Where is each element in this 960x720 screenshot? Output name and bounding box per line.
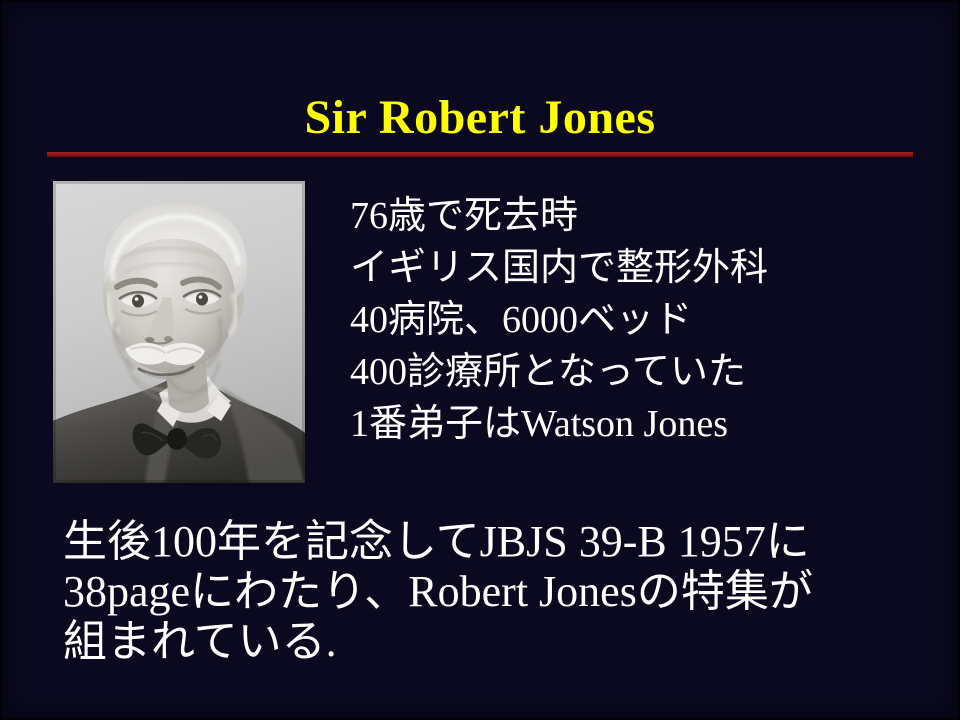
body-line: 76歳で死去時 [350,190,910,242]
body-line: 1番弟子はWatson Jones [350,398,910,450]
body-line: イギリス国内で整形外科 [350,242,910,294]
portrait-photo [53,181,305,483]
portrait-photo-image [53,181,305,483]
caption-line: 生後100年を記念してJBJS 39-B 1957に [63,517,943,567]
body-line: 400診療所となっていた [350,346,910,398]
body-line: 40病院、6000ベッド [350,294,910,346]
body-text-block: 76歳で死去時 イギリス国内で整形外科 40病院、6000ベッド 400診療所と… [350,190,910,450]
slide-title: Sir Robert Jones [0,90,960,146]
caption-line: 組まれている. [63,617,943,667]
title-divider-line [47,152,913,157]
caption-text-block: 生後100年を記念してJBJS 39-B 1957に 38pageにわたり、Ro… [63,517,943,667]
caption-line: 38pageにわたり、Robert Jonesの特集が [63,567,943,617]
presentation-slide: Sir Robert Jones [0,0,960,720]
